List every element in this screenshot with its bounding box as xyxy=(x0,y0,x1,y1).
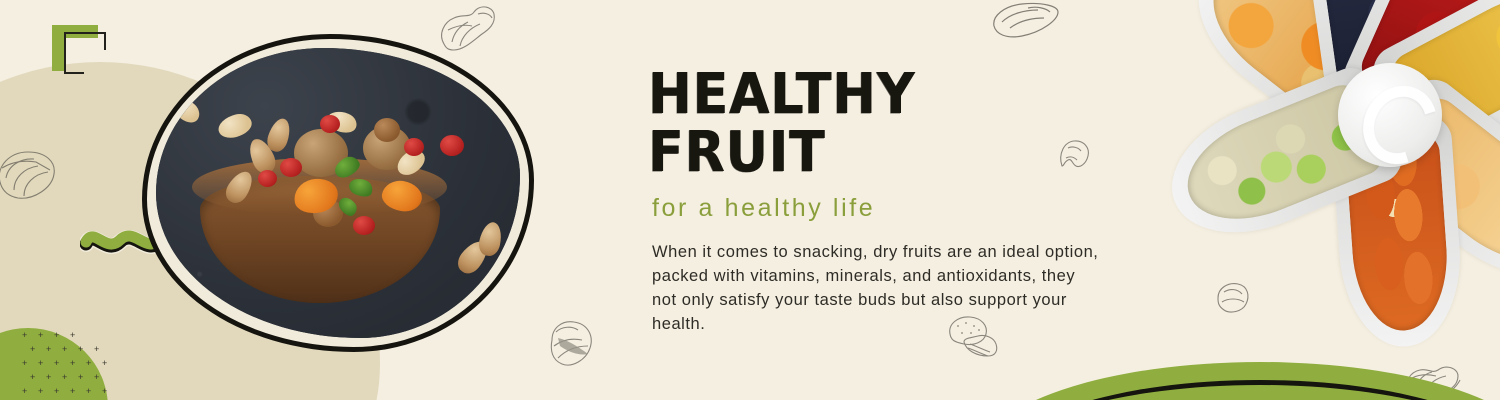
dried-cranberry xyxy=(353,216,375,235)
nut-hazelnut xyxy=(374,118,400,142)
page-title: HEALTHY FRUIT xyxy=(648,66,1085,182)
dried-cranberry xyxy=(280,158,302,177)
text-block: HEALTHY FRUIT for a healthy life When it… xyxy=(648,66,1118,336)
photo-image xyxy=(156,48,520,338)
pistachio-sketch-bottom-center xyxy=(544,314,600,378)
flower-platter-graphic xyxy=(1155,0,1500,350)
platter-center-bowl xyxy=(1338,63,1442,167)
dry-fruit-bowl-photo xyxy=(142,34,534,352)
dried-cranberry xyxy=(440,135,464,156)
almond-sketch-top-right xyxy=(988,0,1062,44)
dried-cranberry xyxy=(258,170,277,187)
dried-cranberry xyxy=(404,138,424,156)
pistachio-sketch-left xyxy=(0,138,70,212)
plus-dot-grid: ++++ +++++ ++++++ +++++ ++++++ xyxy=(22,332,114,400)
body-paragraph: When it comes to snacking, dry fruits ar… xyxy=(652,240,1104,336)
dried-cranberry xyxy=(320,115,340,133)
healthy-fruit-banner: ++++ +++++ ++++++ +++++ ++++++ xyxy=(0,0,1500,400)
corner-bracket-outline-icon xyxy=(64,32,104,72)
subtitle: for a healthy life xyxy=(652,194,1118,222)
